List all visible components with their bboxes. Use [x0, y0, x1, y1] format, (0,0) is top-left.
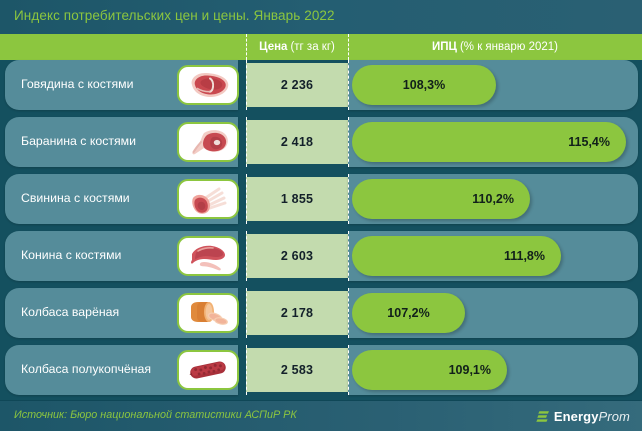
energyprom-logo[interactable]: EnergyProm: [536, 408, 630, 425]
pork-ribs-icon: [184, 183, 232, 215]
cpi-bar-value: 110,2%: [472, 192, 514, 206]
column-header-price-strong: Цена: [259, 41, 287, 53]
row-product-icon: [177, 350, 239, 390]
beef-steak-icon: [184, 69, 232, 101]
cpi-bar-track: 108,3%: [348, 60, 638, 110]
cpi-bar: 107,2%: [352, 293, 465, 333]
row-product-icon: [177, 65, 239, 105]
row-label: Колбаса варёная: [21, 288, 179, 338]
table-row: Свинина с костями 1 855 110,2%: [0, 174, 642, 224]
column-header-price: Цена (тг за кг): [246, 34, 348, 60]
cpi-bar: 110,2%: [352, 179, 530, 219]
cpi-bar: 109,1%: [352, 350, 507, 390]
table-row: Говядина с костями 2 236 108,3%: [0, 60, 642, 110]
row-label: Колбаса полукопчёная: [21, 345, 179, 395]
price-cell: 2 603: [246, 234, 348, 278]
cpi-bar-value: 111,8%: [504, 249, 545, 263]
cpi-bar: 111,8%: [352, 236, 561, 276]
row-label-pill: Свинина с костями: [5, 174, 238, 224]
infographic-canvas: Индекс потребительских цен и цены. Январ…: [0, 0, 642, 431]
column-header-cpi-strong: ИПЦ: [432, 41, 457, 53]
row-label: Свинина с костями: [21, 174, 179, 224]
row-divider-left: [246, 288, 247, 338]
row-label-pill: Говядина с костями: [5, 60, 238, 110]
price-cell: 2 178: [246, 291, 348, 335]
cpi-bar-track: 115,4%: [348, 117, 638, 167]
title-band: Индекс потребительских цен и цены. Январ…: [0, 0, 642, 34]
row-divider-right: [348, 288, 349, 338]
price-cell: 1 855: [246, 177, 348, 221]
price-cell: 2 236: [246, 63, 348, 107]
row-divider-left: [246, 174, 247, 224]
logo-text-secondary: Prom: [599, 409, 630, 424]
row-divider-left: [246, 231, 247, 281]
cpi-bar-track: 107,2%: [348, 288, 638, 338]
column-header-cpi: ИПЦ (% к январю 2021): [348, 34, 642, 60]
row-divider-left: [246, 60, 247, 110]
row-label: Говядина с костями: [21, 60, 179, 110]
row-divider-left: [246, 117, 247, 167]
column-header-price-note: (тг за кг): [290, 41, 334, 53]
table-row: Конина с костями 2 603 111,8%: [0, 231, 642, 281]
row-label: Конина с костями: [21, 231, 179, 281]
table-row: Колбаса полукопчёная 2 583 109,1%: [0, 345, 642, 395]
data-rows: Говядина с костями 2 236 108,3% Баранина…: [0, 60, 642, 401]
row-product-icon: [177, 236, 239, 276]
footer-band: Источник: Бюро национальной статистики А…: [0, 400, 642, 431]
row-divider-right: [348, 117, 349, 167]
cpi-bar-value: 109,1%: [449, 363, 491, 377]
row-label-pill: Баранина с костями: [5, 117, 238, 167]
column-divider-right: [348, 34, 349, 60]
row-label: Баранина с костями: [21, 117, 179, 167]
row-label-pill: Колбаса полукопчёная: [5, 345, 238, 395]
smoked-sausage-icon: [184, 354, 232, 386]
row-product-icon: [177, 293, 239, 333]
row-product-icon: [177, 179, 239, 219]
row-divider-left: [246, 345, 247, 395]
cpi-bar-track: 111,8%: [348, 231, 638, 281]
column-header-band: Цена (тг за кг) ИПЦ (% к январю 2021): [0, 34, 642, 60]
column-header-cpi-note: (% к январю 2021): [460, 41, 558, 53]
cpi-bar-value: 107,2%: [387, 306, 429, 320]
row-product-icon: [177, 122, 239, 162]
source-note: Источник: Бюро национальной статистики А…: [14, 409, 297, 421]
row-label-pill: Конина с костями: [5, 231, 238, 281]
logo-e-mark-icon: [536, 410, 550, 424]
lamb-leg-icon: [184, 126, 232, 158]
cpi-bar-value: 115,4%: [568, 135, 610, 149]
logo-text-primary: Energy: [554, 409, 599, 424]
horse-meat-cut-icon: [184, 240, 232, 272]
row-divider-right: [348, 174, 349, 224]
row-divider-right: [348, 60, 349, 110]
table-row: Баранина с костями 2 418 115,4%: [0, 117, 642, 167]
table-row: Колбаса варёная 2 178 107,2%: [0, 288, 642, 338]
page-title: Индекс потребительских цен и цены. Январ…: [14, 8, 335, 23]
column-divider-left: [246, 34, 247, 60]
boiled-sausage-icon: [184, 297, 232, 329]
cpi-bar: 108,3%: [352, 65, 496, 105]
cpi-bar-track: 110,2%: [348, 174, 638, 224]
row-divider-right: [348, 345, 349, 395]
price-cell: 2 418: [246, 120, 348, 164]
price-cell: 2 583: [246, 348, 348, 392]
logo-text: EnergyProm: [554, 409, 630, 424]
cpi-bar-value: 108,3%: [403, 78, 445, 92]
cpi-bar-track: 109,1%: [348, 345, 638, 395]
row-divider-right: [348, 231, 349, 281]
cpi-bar: 115,4%: [352, 122, 626, 162]
row-label-pill: Колбаса варёная: [5, 288, 238, 338]
